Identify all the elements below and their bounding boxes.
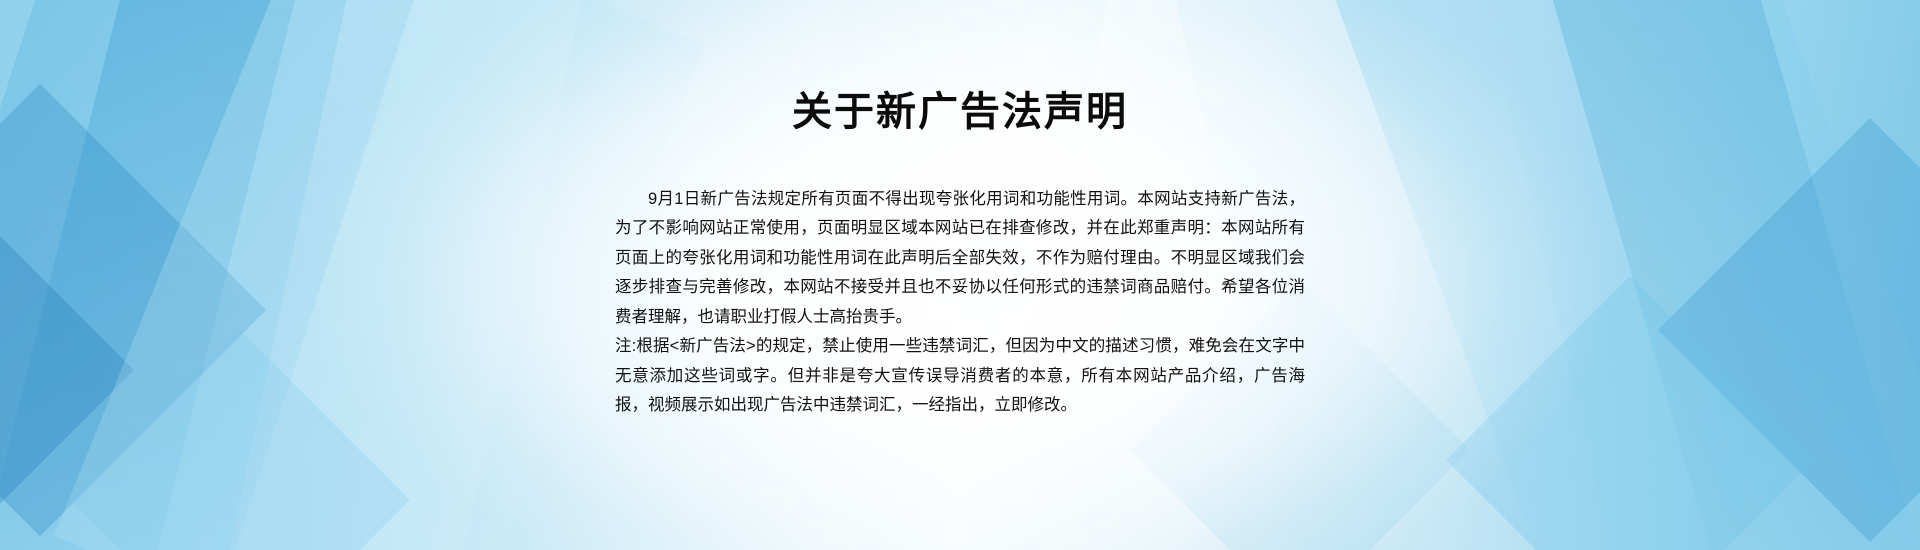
page-title: 关于新广告法声明	[792, 88, 1128, 136]
statement-paragraph-1: 9月1日新广告法规定所有页面不得出现夸张化用词和功能性用词。本网站支持新广告法，…	[615, 185, 1305, 333]
banner-content: 关于新广告法声明 9月1日新广告法规定所有页面不得出现夸张化用词和功能性用词。本…	[0, 0, 1920, 550]
statement-paragraph-2: 注:根据<新广告法>的规定，禁止使用一些违禁词汇，但因为中文的描述习惯，难免会在…	[615, 332, 1305, 421]
advertising-law-statement-banner: 关于新广告法声明 9月1日新广告法规定所有页面不得出现夸张化用词和功能性用词。本…	[0, 0, 1920, 550]
statement-body: 9月1日新广告法规定所有页面不得出现夸张化用词和功能性用词。本网站支持新广告法，…	[615, 185, 1305, 421]
